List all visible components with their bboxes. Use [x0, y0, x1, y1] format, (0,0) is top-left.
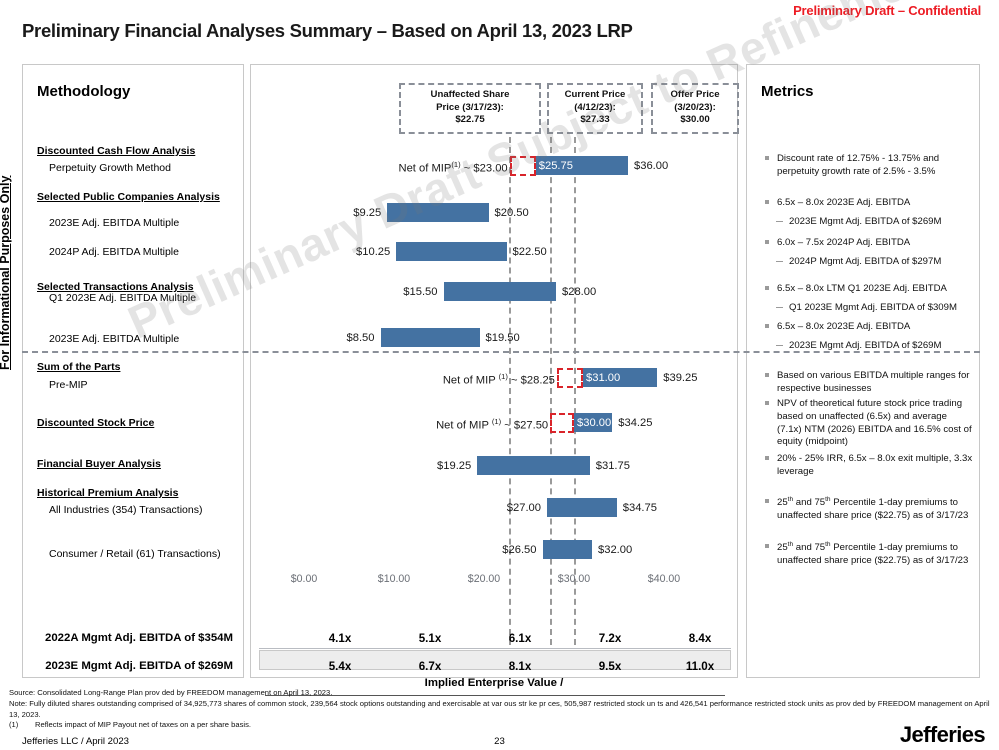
methodology-item: 2024P Adj. EBITDA Multiple [49, 246, 179, 258]
metric-text: 6.5x – 8.0x LTM Q1 2023E Adj. EBITDA [777, 283, 947, 294]
callout-line-3: $27.33 [551, 114, 639, 127]
methodology-heading: Selected Public Companies Analysis [37, 191, 220, 203]
metric-text: 25th and 75th Percentile 1-day premiums … [777, 497, 968, 521]
net-of-mip-label: Net of MIP(1) ~ $23.00 [320, 160, 508, 175]
square-bullet-icon [765, 240, 769, 244]
methodology-heading: Financial Buyer Analysis [37, 458, 161, 470]
implied-ev-cell: 8.1x [485, 660, 555, 673]
methodology-heading: Sum of the Parts [37, 361, 120, 373]
square-bullet-icon [765, 401, 769, 405]
methodology-panel: Methodology Discounted Cash Flow Analysi… [22, 64, 244, 678]
metrics-panel-title: Metrics [761, 83, 814, 100]
bar-low-label: $15.50 [386, 286, 438, 298]
square-bullet-icon [765, 156, 769, 160]
square-bullet-icon [765, 286, 769, 290]
bar-high-label: $32.00 [598, 544, 632, 556]
bar-selected-txns-2023e [381, 328, 480, 347]
reference-line-1 [550, 137, 552, 645]
methodology-item: Pre-MIP [49, 379, 88, 391]
bar-low-label: $31.00 [586, 372, 620, 384]
x-tick-label-1: $10.00 [359, 573, 429, 585]
bar-low-label: $25.75 [539, 160, 573, 172]
metric-bullet-3: 6.0x – 7.5x 2024P Adj. EBITDA [777, 237, 973, 250]
footnotes: Source: Consolidated Long-Range Plan pro… [9, 688, 994, 731]
metric-bullet-6: Q1 2023E Mgmt Adj. EBITDA of $309M [789, 302, 975, 315]
reference-line-2 [574, 137, 576, 645]
bar-high-label: $34.75 [623, 502, 657, 514]
footnote-text: Reflects impact of MIP Payout net of tax… [35, 720, 251, 729]
callout-current-price: Current Price(4/12/23):$27.33 [547, 83, 643, 134]
metric-text: 6.5x – 8.0x 2023E Adj. EBITDA [777, 321, 910, 332]
callout-offer-price: Offer Price(3/20/23):$30.00 [651, 83, 739, 134]
bar-high-label: $34.25 [618, 417, 652, 429]
x-tick-label-4: $40.00 [629, 573, 699, 585]
metric-text: 6.5x – 8.0x 2023E Adj. EBITDA [777, 197, 910, 208]
bar-selected-txns-q1-2023e [444, 282, 557, 301]
x-tick-label-3: $30.00 [539, 573, 609, 585]
metric-bullet-10: NPV of theoretical future stock price tr… [777, 398, 973, 449]
implied-ev-cell: 7.2x [575, 632, 645, 645]
metric-bullet-1: 6.5x – 8.0x 2023E Adj. EBITDA [777, 197, 973, 210]
methodology-heading: Historical Premium Analysis [37, 487, 178, 499]
metric-text: 20% - 25% IRR, 6.5x – 8.0x exit multiple… [777, 453, 972, 477]
bar-public-cos-2023e [387, 203, 488, 222]
square-bullet-icon [765, 544, 769, 548]
metric-text: 2023E Mgmt Adj. EBITDA of $269M [789, 340, 942, 351]
confidential-stamp: Preliminary Draft – Confidential [793, 3, 981, 18]
footnote-text: Source: Consolidated Long-Range Plan pro… [9, 688, 332, 697]
bar-low-label: $8.50 [323, 332, 375, 344]
implied-ev-row-label: 2023E Mgmt Adj. EBITDA of $269M [45, 660, 233, 672]
footnote-0: Source: Consolidated Long-Range Plan pro… [9, 688, 994, 699]
bar-low-label: $9.25 [329, 207, 381, 219]
implied-ev-cell: 5.4x [305, 660, 375, 673]
mip-net-highlight-box [510, 156, 536, 176]
bar-high-label: $19.50 [486, 332, 520, 344]
x-tick-label-0: $0.00 [269, 573, 339, 585]
metric-bullet-4: 2024P Mgmt Adj. EBITDA of $297M [789, 256, 975, 269]
net-of-mip-label: Net of MIP (1) ~ $28.25 [367, 372, 555, 387]
bar-low-label: $19.25 [419, 460, 471, 472]
implied-equity-value-chart: Unaffected SharePrice (3/17/23):$22.75Cu… [251, 65, 737, 677]
bar-high-label: $39.25 [663, 372, 697, 384]
square-bullet-icon [765, 499, 769, 503]
page-title: Preliminary Financial Analyses Summary –… [22, 20, 633, 42]
dash-bullet-icon [776, 261, 783, 262]
callout-line-1: Unaffected Share [403, 89, 537, 102]
methodology-item: Q1 2023E Adj. EBITDA Multiple [49, 292, 196, 304]
methodology-item: Consumer / Retail (61) Transactions) [49, 548, 221, 560]
callout-line-2: Price (3/17/23): [403, 102, 537, 115]
metric-bullet-12: 25th and 75th Percentile 1-day premiums … [777, 496, 973, 523]
metric-text: Based on various EBITDA multiple ranges … [777, 370, 970, 394]
bar-high-label: $31.75 [596, 460, 630, 472]
bar-low-label: $30.00 [577, 417, 611, 429]
bar-financial-buyer [477, 456, 590, 475]
metric-text: 25th and 75th Percentile 1-day premiums … [777, 542, 968, 566]
axis-baseline [259, 648, 731, 649]
footnote-2: (1)Reflects impact of MIP Payout net of … [9, 720, 994, 731]
square-bullet-icon [765, 456, 769, 460]
implied-ev-cell: 8.4x [665, 632, 735, 645]
methodology-item: All Industries (354) Transactions) [49, 504, 202, 516]
bar-high-label: $20.50 [495, 207, 529, 219]
methodology-item: Perpetuity Growth Method [49, 162, 171, 174]
methodology-heading: Discounted Cash Flow Analysis [37, 145, 195, 157]
metric-bullet-13: 25th and 75th Percentile 1-day premiums … [777, 541, 973, 568]
dash-bullet-icon [776, 221, 783, 222]
metric-text: Q1 2023E Mgmt Adj. EBITDA of $309M [789, 302, 957, 313]
dash-bullet-icon [776, 307, 783, 308]
metric-text: Discount rate of 12.75% - 13.75% and per… [777, 153, 939, 177]
bar-low-label: $26.50 [485, 544, 537, 556]
jefferies-logo: Jefferies [900, 722, 985, 748]
informational-purposes-label: For Informational Purposes Only [0, 150, 12, 370]
methodology-item: 2023E Adj. EBITDA Multiple [49, 217, 179, 229]
dash-bullet-icon [776, 345, 783, 346]
x-tick-label-2: $20.00 [449, 573, 519, 585]
metric-bullet-2: 2023E Mgmt Adj. EBITDA of $269M [789, 216, 975, 229]
metric-text: NPV of theoretical future stock price tr… [777, 398, 972, 447]
mip-net-highlight-box [550, 413, 574, 433]
footnote-1: Note: Fully diluted shares outstanding c… [9, 699, 994, 721]
bar-low-label: $27.00 [489, 502, 541, 514]
mip-net-highlight-box [557, 368, 583, 388]
methodology-heading: Discounted Stock Price [37, 417, 154, 429]
chart-panel: Unaffected SharePrice (3/17/23):$22.75Cu… [250, 64, 738, 678]
metric-text: 2023E Mgmt Adj. EBITDA of $269M [789, 216, 942, 227]
implied-ev-row-label: 2022A Mgmt Adj. EBITDA of $354M [45, 632, 233, 644]
callout-line-2: (3/20/23): [655, 102, 735, 115]
metric-bullet-5: 6.5x – 8.0x LTM Q1 2023E Adj. EBITDA [777, 283, 973, 296]
implied-ev-cell: 4.1x [305, 632, 375, 645]
implied-ev-cell: 9.5x [575, 660, 645, 673]
footnote-index: (1) [9, 720, 35, 731]
callout-line-1: Offer Price [655, 89, 735, 102]
metric-text: 6.0x – 7.5x 2024P Adj. EBITDA [777, 237, 910, 248]
section-divider [22, 351, 980, 353]
footnote-text: Note: Fully diluted shares outstanding c… [9, 699, 990, 719]
metrics-panel: Metrics Discount rate of 12.75% - 13.75%… [746, 64, 980, 678]
callout-line-3: $30.00 [655, 114, 735, 127]
implied-ev-cell: 5.1x [395, 632, 465, 645]
bar-hist-premium-consumer-retail [543, 540, 593, 559]
metric-text: 2024P Mgmt Adj. EBITDA of $297M [789, 256, 941, 267]
bar-high-label: $36.00 [634, 160, 668, 172]
callout-line-3: $22.75 [403, 114, 537, 127]
callout-line-1: Current Price [551, 89, 639, 102]
bar-low-label: $10.25 [338, 246, 390, 258]
net-of-mip-label: Net of MIP (1) ~ $27.50 [360, 417, 548, 432]
methodology-item: 2023E Adj. EBITDA Multiple [49, 333, 179, 345]
callout-line-2: (4/12/23): [551, 102, 639, 115]
square-bullet-icon [765, 373, 769, 377]
implied-ev-cell: 6.1x [485, 632, 555, 645]
metric-bullet-7: 6.5x – 8.0x 2023E Adj. EBITDA [777, 321, 973, 334]
metric-bullet-11: 20% - 25% IRR, 6.5x – 8.0x exit multiple… [777, 453, 973, 479]
bar-public-cos-2024p [396, 242, 506, 261]
square-bullet-icon [765, 324, 769, 328]
implied-ev-cell: 6.7x [395, 660, 465, 673]
metric-bullet-9: Based on various EBITDA multiple ranges … [777, 370, 973, 396]
bar-high-label: $22.50 [513, 246, 547, 258]
page-number: 23 [0, 736, 999, 747]
metric-bullet-0: Discount rate of 12.75% - 13.75% and per… [777, 153, 973, 179]
bar-hist-premium-all-industries [547, 498, 617, 517]
bar-high-label: $28.00 [562, 286, 596, 298]
callout-unaffected-share-price: Unaffected SharePrice (3/17/23):$22.75 [399, 83, 541, 134]
implied-ev-cell: 11.0x [665, 660, 735, 673]
methodology-panel-title: Methodology [37, 83, 130, 100]
square-bullet-icon [765, 200, 769, 204]
